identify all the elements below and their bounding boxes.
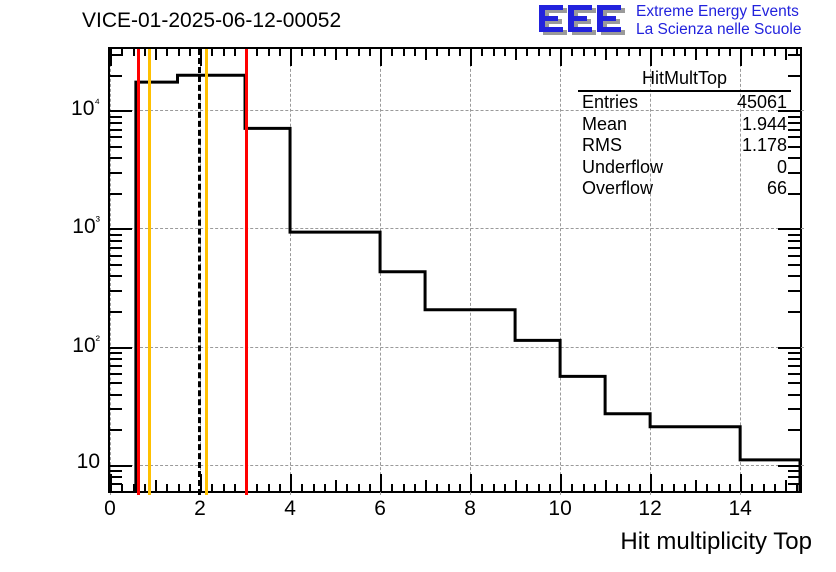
x-tick-label: 2 <box>170 497 230 521</box>
stats-box-title: HitMultTop <box>578 68 791 92</box>
marker-line-low-red-cut <box>137 49 140 495</box>
stats-row-value: 66 <box>767 178 787 200</box>
eee-tagline-line2: La Scienza nelle Scuole <box>636 21 836 39</box>
stats-row-value: 45061 <box>737 92 787 114</box>
y-tick-label: 10³ <box>30 213 100 239</box>
y-tick-label: 10 <box>30 450 100 474</box>
y-tick-label: 10⁴ <box>30 95 100 121</box>
axis-tick <box>110 491 122 493</box>
marker-line-low-orange-cut <box>148 49 151 495</box>
stats-row-key: Mean <box>582 114 627 136</box>
stats-row-key: RMS <box>582 135 622 157</box>
eee-tagline: Extreme Energy Events La Scienza nelle S… <box>636 3 836 39</box>
root-canvas: VICE-01-2025-06-12-00052 <box>0 0 836 572</box>
x-tick-label: 4 <box>260 497 320 521</box>
stats-row: Mean1.944 <box>578 114 791 136</box>
x-tick-label: 6 <box>350 497 410 521</box>
stats-box: HitMultTop Entries45061Mean1.944RMS1.178… <box>578 68 791 200</box>
marker-line-mean-dashed <box>198 49 201 495</box>
page-title: VICE-01-2025-06-12-00052 <box>82 9 341 33</box>
stats-row-value: 0 <box>777 157 787 179</box>
stats-box-rows: Entries45061Mean1.944RMS1.178Underflow0O… <box>578 92 791 200</box>
stats-row: Underflow0 <box>578 157 791 179</box>
eee-tagline-line1: Extreme Energy Events <box>636 3 836 21</box>
x-tick-label: 0 <box>80 497 140 521</box>
x-tick-label: 12 <box>620 497 680 521</box>
stats-row-value: 1.944 <box>742 114 787 136</box>
stats-row: RMS1.178 <box>578 135 791 157</box>
axis-tick <box>788 491 800 493</box>
eee-logo: Extreme Energy Events La Scienza nelle S… <box>536 2 834 44</box>
x-axis-title: Hit multiplicity Top <box>620 528 812 556</box>
x-tick-label: 10 <box>530 497 590 521</box>
stats-row: Overflow66 <box>578 178 791 200</box>
x-tick-label: 14 <box>710 497 770 521</box>
marker-line-high-orange-cut <box>205 49 208 495</box>
stats-row-value: 1.178 <box>742 135 787 157</box>
stats-row-key: Entries <box>582 92 638 114</box>
marker-line-high-red-cut <box>245 49 248 495</box>
stats-row: Entries45061 <box>578 92 791 114</box>
y-tick-label: 10² <box>30 332 100 358</box>
x-tick-label: 8 <box>440 497 500 521</box>
eee-logo-mark-icon <box>536 5 628 39</box>
stats-row-key: Underflow <box>582 157 663 179</box>
stats-row-key: Overflow <box>582 178 653 200</box>
